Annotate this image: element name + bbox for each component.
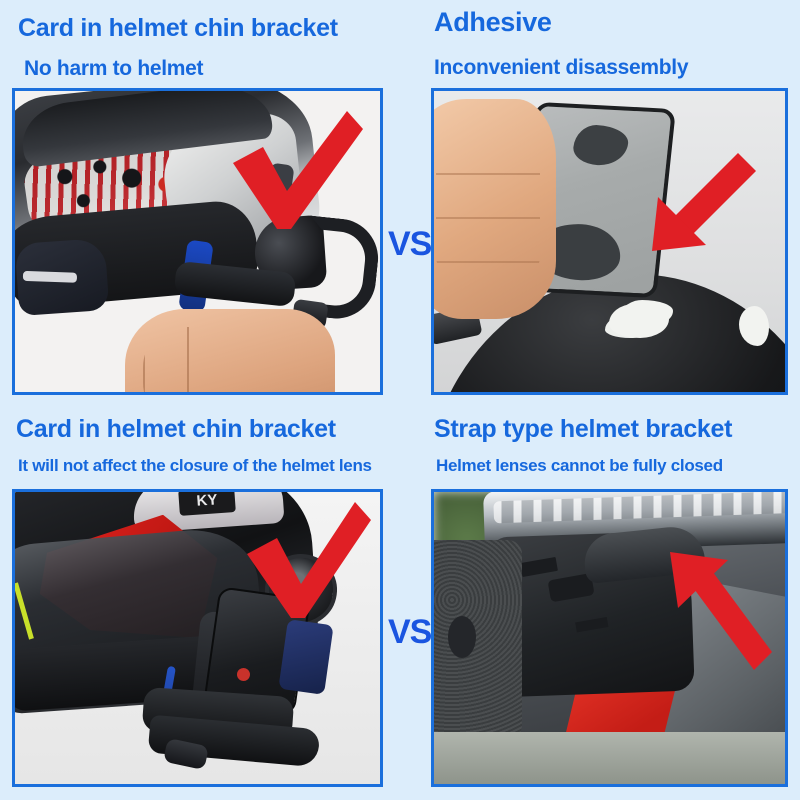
photo-chin-bracket-white-helmet xyxy=(15,91,380,392)
row1-con-subtitle: Inconvenient disassembly xyxy=(434,57,688,78)
row2-pro-photo-panel: KY xyxy=(12,489,383,787)
row1-con-photo-panel xyxy=(431,88,788,395)
comparison-infographic: Card in helmet chin bracket No harm to h… xyxy=(0,0,800,800)
row2-vs-label: VS xyxy=(388,615,431,649)
row1-pro-title: Card in helmet chin bracket xyxy=(18,16,338,41)
row2-pro-title: Card in helmet chin bracket xyxy=(16,417,336,442)
row1-vs-label: VS xyxy=(388,227,431,261)
photo-chin-bracket-camera: KY xyxy=(15,492,380,784)
row2-con-subtitle: Helmet lenses cannot be fully closed xyxy=(436,457,723,474)
row2-con-title: Strap type helmet bracket xyxy=(434,417,732,442)
photo-adhesive-peel xyxy=(434,91,785,392)
row1-pro-photo-panel xyxy=(12,88,383,395)
row2-pro-subtitle: It will not affect the closure of the he… xyxy=(18,457,372,474)
row1-pro-subtitle: No harm to helmet xyxy=(24,58,203,79)
row2-con-photo-panel xyxy=(431,489,788,787)
photo-strap-bracket-visor-gap xyxy=(434,492,785,784)
row1-con-title: Adhesive xyxy=(434,9,552,36)
